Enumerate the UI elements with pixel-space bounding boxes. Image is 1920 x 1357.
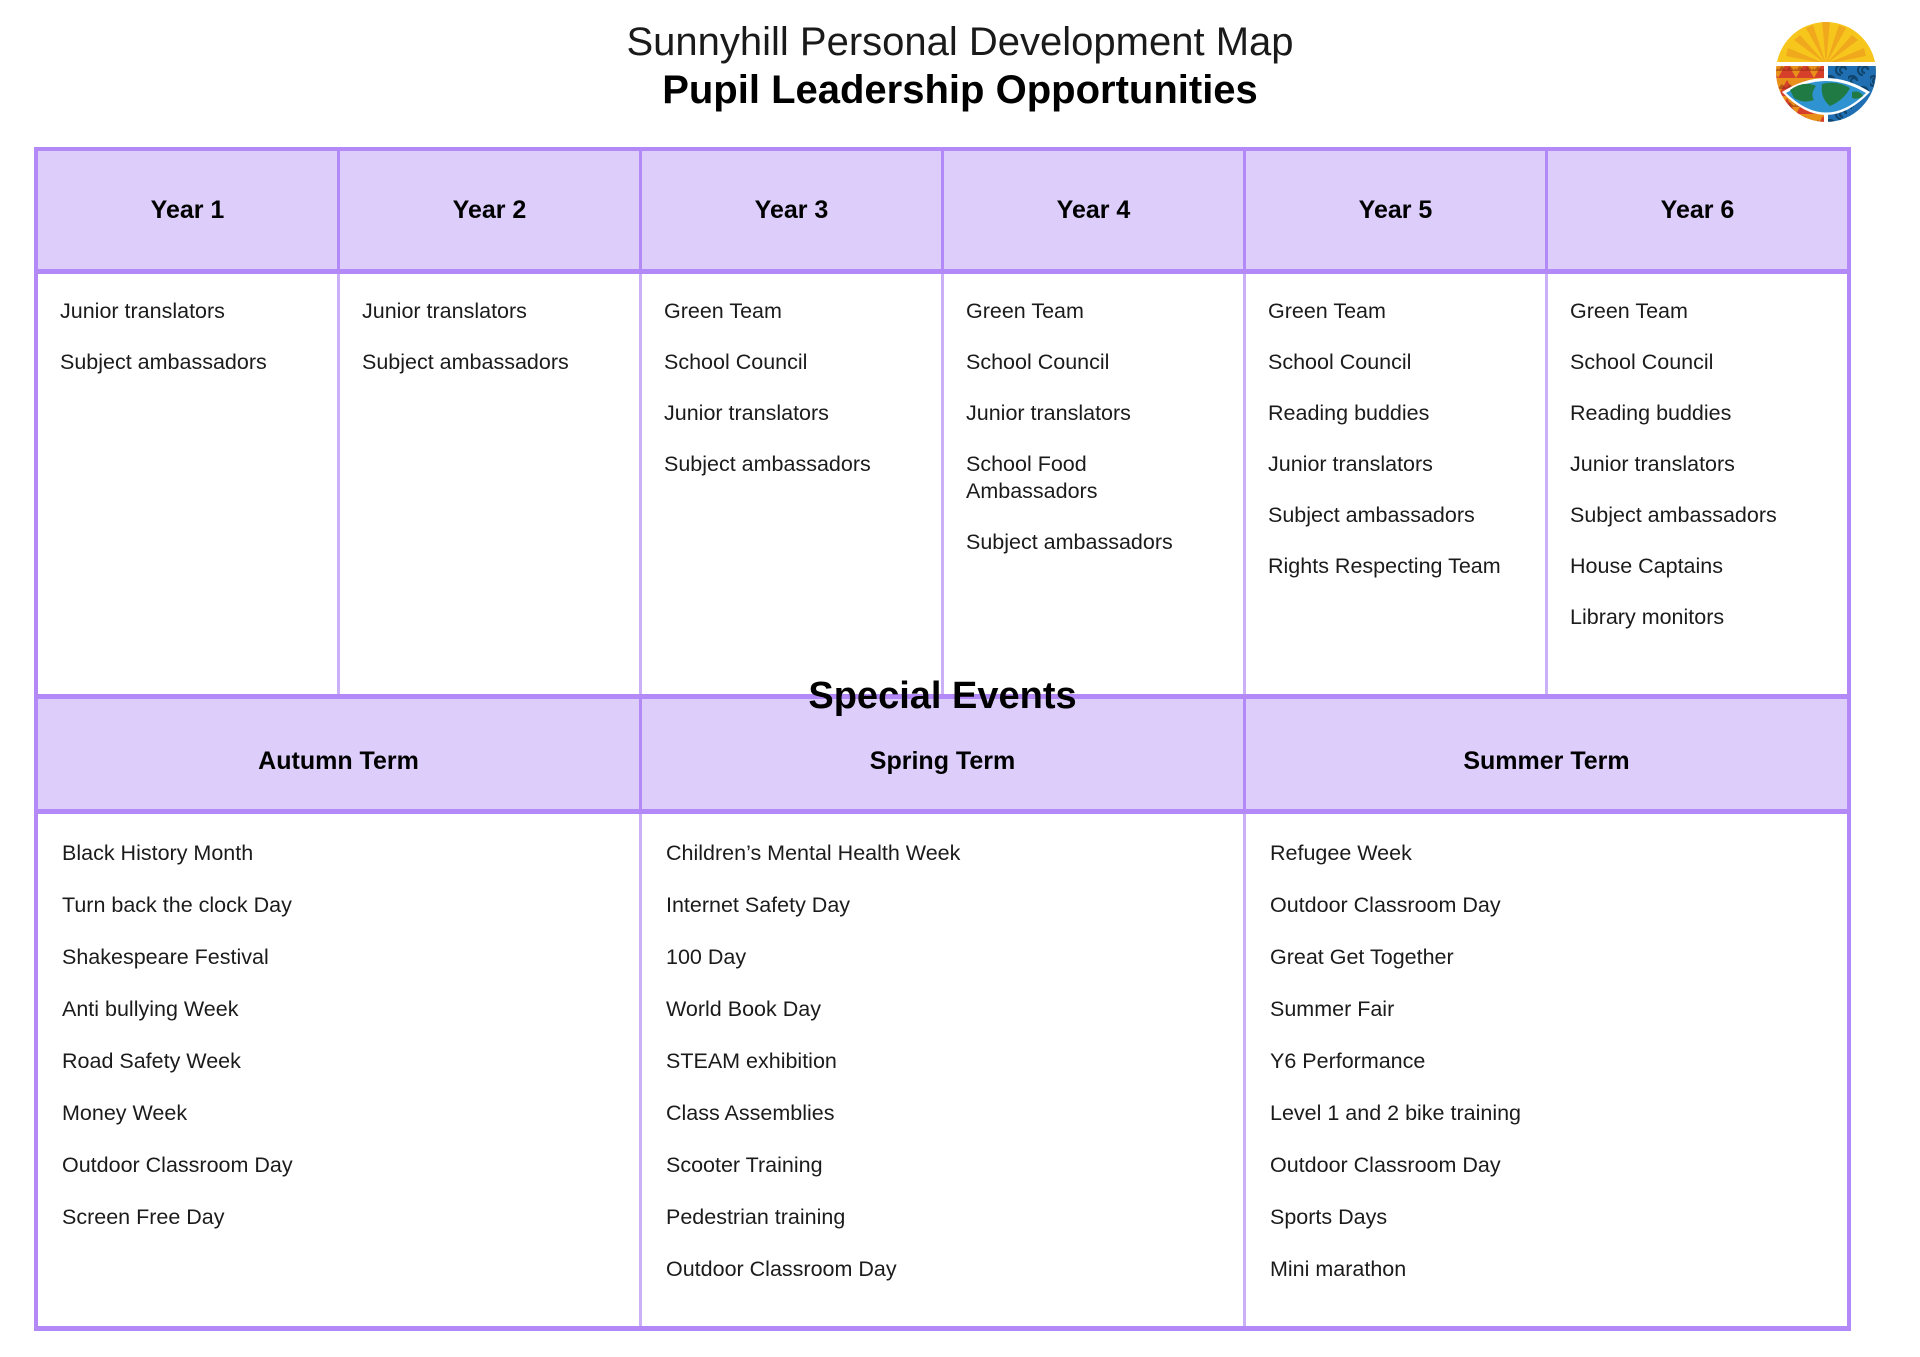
title-block: Sunnyhill Personal Development Map Pupil… [0,18,1920,114]
page-subtitle: Pupil Leadership Opportunities [0,66,1920,114]
list-item: Reading buddies [1570,400,1825,427]
list-item: Junior translators [1570,451,1825,478]
list-item: Internet Safety Day [666,892,1219,919]
list-item: Subject ambassadors [1268,502,1523,529]
year-header-cell-3: Year 3 [642,151,944,269]
list-item: Reading buddies [1268,400,1523,427]
list-item: Green Team [664,298,919,325]
list-item: Y6 Performance [1270,1048,1823,1075]
list-item: Subject ambassadors [966,529,1221,556]
year-label: Year 4 [1057,196,1131,225]
term-label: Summer Term [1463,747,1629,776]
list-item: Level 1 and 2 bike training [1270,1100,1823,1127]
list-item: Anti bullying Week [62,996,615,1023]
list-item: School Council [966,349,1221,376]
list-item: Junior translators [966,400,1221,427]
list-item: 100 Day [666,944,1219,971]
list-item: Scooter Training [666,1152,1219,1179]
list-item: Subject ambassadors [362,349,617,376]
term-label: Autumn Term [258,747,419,776]
year-header-cell-5: Year 5 [1246,151,1548,269]
list-item: Great Get Together [1270,944,1823,971]
list-item: Class Assemblies [666,1100,1219,1127]
list-item: Junior translators [60,298,315,325]
list-item: Subject ambassadors [664,451,919,478]
list-item: Junior translators [1268,451,1523,478]
list-item: Road Safety Week [62,1048,615,1075]
year-body-cell-6: Green TeamSchool CouncilReading buddiesJ… [1548,274,1847,694]
year-label: Year 5 [1359,196,1433,225]
year-body-cell-1: Junior translatorsSubject ambassadors [38,274,340,694]
year-header-row: Year 1 Year 2 Year 3 Year 4 Year 5 Year … [34,147,1851,274]
list-item: Black History Month [62,840,615,867]
list-item: Green Team [966,298,1221,325]
list-item: Outdoor Classroom Day [1270,892,1823,919]
list-item: Subject ambassadors [60,349,315,376]
year-header-cell-4: Year 4 [944,151,1246,269]
year-body-cell-2: Junior translatorsSubject ambassadors [340,274,642,694]
list-item: World Book Day [666,996,1219,1023]
page-header: Sunnyhill Personal Development Map Pupil… [0,0,1920,147]
development-map-table: Year 1 Year 2 Year 3 Year 4 Year 5 Year … [34,147,1851,1331]
term-body-cell-spring: Children’s Mental Health WeekInternet Sa… [642,814,1246,1326]
list-item: Pedestrian training [666,1204,1219,1231]
list-item: Outdoor Classroom Day [666,1256,1219,1283]
list-item: Sports Days [1270,1204,1823,1231]
year-header-cell-6: Year 6 [1548,151,1847,269]
list-item: Summer Fair [1270,996,1823,1023]
term-header-row: Autumn Term Spring Term Summer Term [34,699,1851,814]
list-item: Refugee Week [1270,840,1823,867]
list-item: Subject ambassadors [1570,502,1825,529]
list-item: Screen Free Day [62,1204,615,1231]
term-body-cell-autumn: Black History MonthTurn back the clock D… [38,814,642,1326]
term-header-cell-spring: Spring Term [642,699,1246,809]
list-item: Library monitors [1570,604,1825,631]
page-title: Sunnyhill Personal Development Map [0,18,1920,66]
list-item: Junior translators [664,400,919,427]
year-header-cell-1: Year 1 [38,151,340,269]
term-header-cell-autumn: Autumn Term [38,699,642,809]
year-body-row: Junior translatorsSubject ambassadors Ju… [34,274,1851,699]
sunnyhill-school-logo [1760,6,1892,138]
term-label: Spring Term [870,747,1015,776]
logo-svg [1760,6,1892,138]
special-events-header-wrap: Autumn Term Spring Term Summer Term Spec… [34,699,1851,814]
list-item: Rights Respecting Team [1268,553,1523,580]
year-body-cell-4: Green TeamSchool CouncilJunior translato… [944,274,1246,694]
year-label: Year 3 [755,196,829,225]
year-label: Year 6 [1661,196,1735,225]
list-item: Outdoor Classroom Day [1270,1152,1823,1179]
list-item: Money Week [62,1100,615,1127]
list-item: Children’s Mental Health Week [666,840,1219,867]
list-item: School Food Ambassadors [966,451,1221,505]
year-label: Year 2 [453,196,527,225]
term-body-cell-summer: Refugee WeekOutdoor Classroom DayGreat G… [1246,814,1847,1326]
term-body-row: Black History MonthTurn back the clock D… [34,814,1851,1331]
list-item: Mini marathon [1270,1256,1823,1283]
list-item: School Council [1570,349,1825,376]
list-item: House Captains [1570,553,1825,580]
list-item: Green Team [1268,298,1523,325]
year-header-cell-2: Year 2 [340,151,642,269]
list-item: Outdoor Classroom Day [62,1152,615,1179]
list-item: Turn back the clock Day [62,892,615,919]
list-item: School Council [664,349,919,376]
term-header-cell-summer: Summer Term [1246,699,1847,809]
list-item: Green Team [1570,298,1825,325]
year-body-cell-3: Green TeamSchool CouncilJunior translato… [642,274,944,694]
list-item: Shakespeare Festival [62,944,615,971]
list-item: School Council [1268,349,1523,376]
year-label: Year 1 [151,196,225,225]
list-item: STEAM exhibition [666,1048,1219,1075]
list-item: Junior translators [362,298,617,325]
year-body-cell-5: Green TeamSchool CouncilReading buddiesJ… [1246,274,1548,694]
